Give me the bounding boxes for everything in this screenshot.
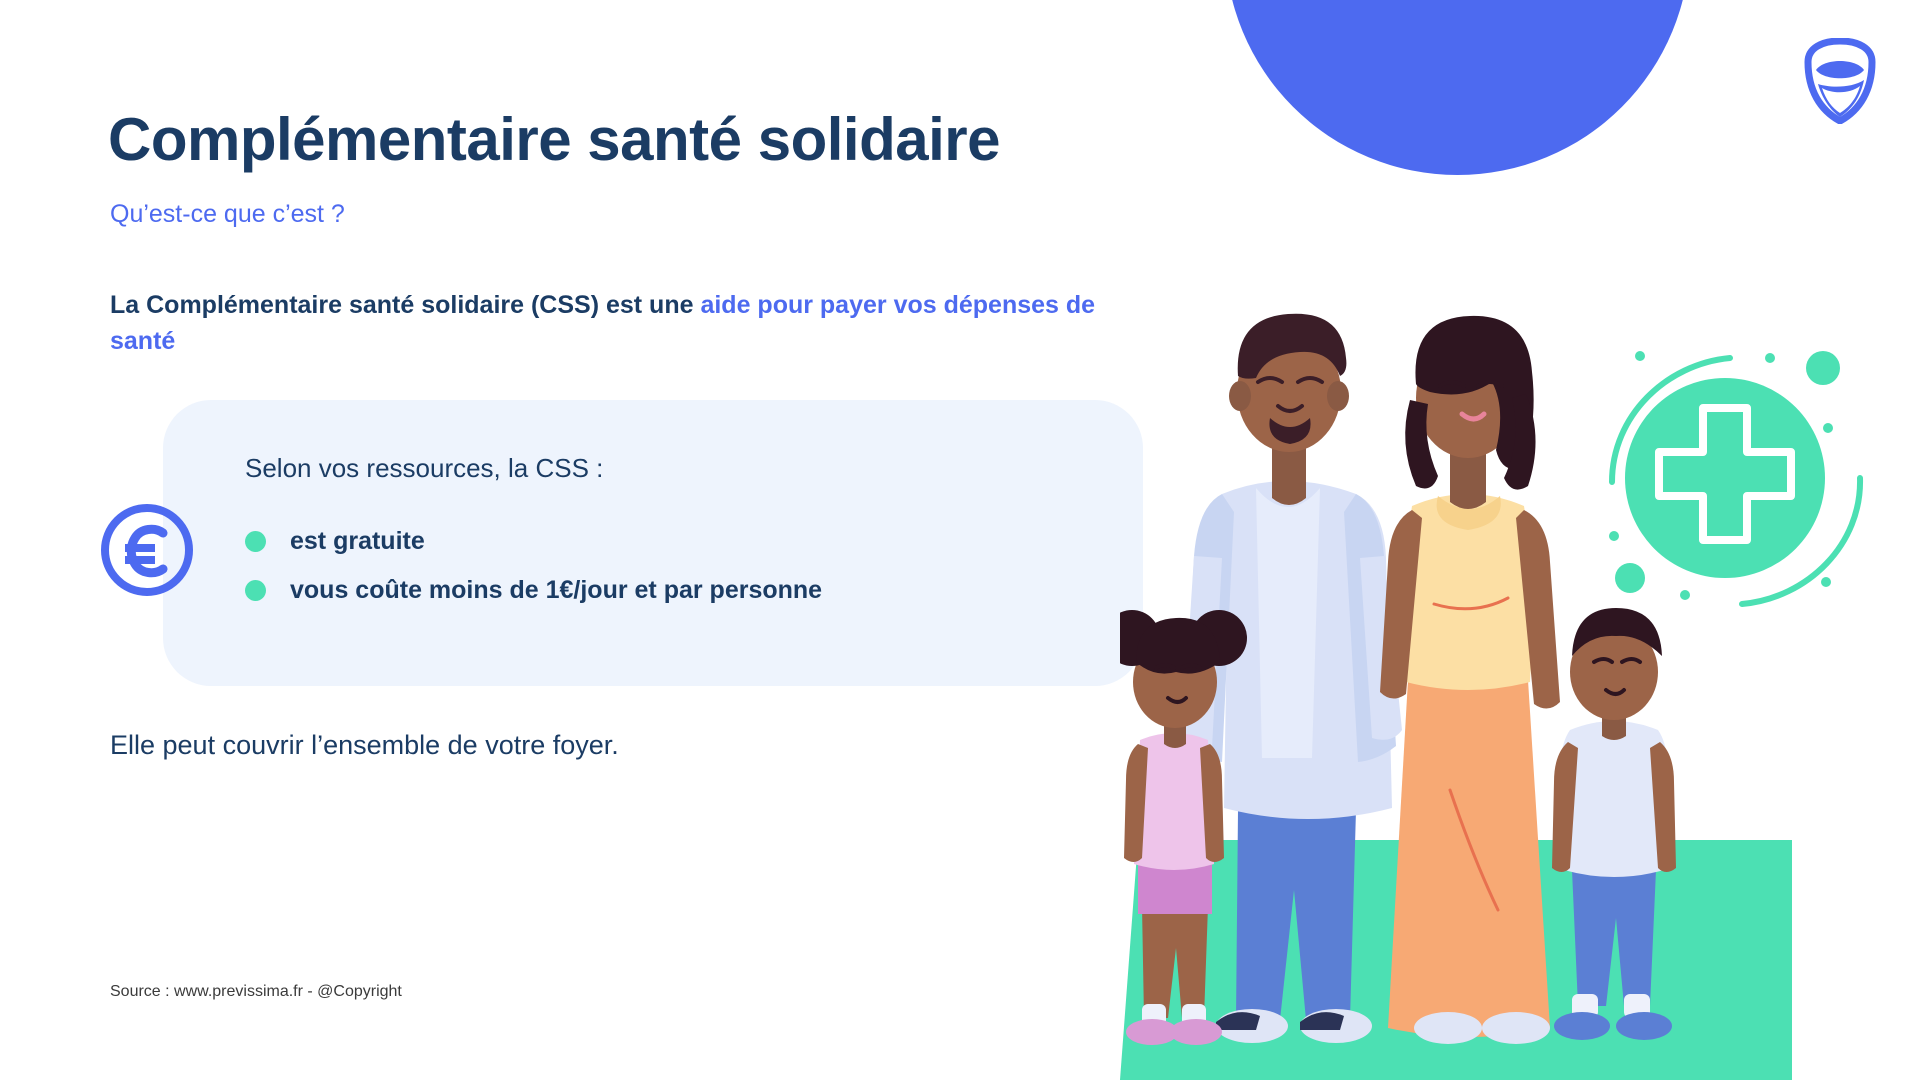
bullet-dot-icon	[245, 531, 266, 552]
benefits-list: est gratuite vous coûte moins de 1€/jour…	[245, 527, 822, 625]
decorative-blue-circle	[1225, 0, 1690, 175]
shield-logo-icon	[1802, 38, 1878, 124]
list-item: est gratuite	[245, 527, 822, 556]
closing-text: Elle peut couvrir l’ensemble de votre fo…	[110, 730, 619, 761]
list-item-label: est gratuite	[290, 527, 425, 556]
page-subtitle: Qu’est-ce que c’est ?	[110, 200, 345, 229]
list-item-label: vous coûte moins de 1€/jour et par perso…	[290, 576, 822, 605]
euro-icon	[97, 500, 197, 600]
list-item: vous coûte moins de 1€/jour et par perso…	[245, 576, 822, 605]
source-credit: Source : www.previssima.fr - @Copyright	[110, 983, 402, 1001]
callout-intro-text: Selon vos ressources, la CSS :	[245, 453, 603, 484]
lead-prefix: La Complémentaire santé solidaire (CSS) …	[110, 291, 700, 319]
lead-paragraph: La Complémentaire santé solidaire (CSS) …	[110, 288, 1140, 359]
page-title: Complémentaire santé solidaire	[108, 105, 1000, 174]
bullet-dot-icon	[245, 580, 266, 601]
family-illustration	[1120, 310, 1920, 1080]
